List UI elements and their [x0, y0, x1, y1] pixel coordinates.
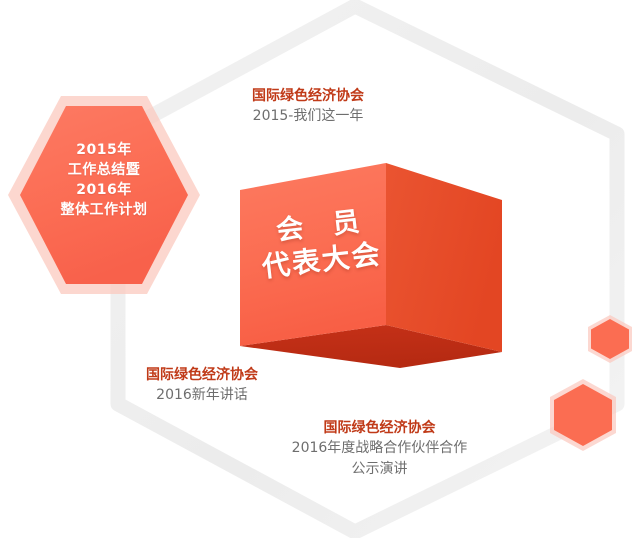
hex-dot-small-icon [586, 314, 634, 364]
label-bottom-left: 国际绿色经济协会 2016新年讲话 [112, 365, 292, 406]
label-top-title: 国际绿色经济协会 [252, 86, 364, 106]
label-bottom-right-title: 国际绿色经济协会 [272, 418, 487, 438]
label-bottom-right-subtitle-line-2: 公示演讲 [272, 459, 487, 480]
hex-dot-large-icon [548, 378, 618, 452]
label-top-subtitle: 2015-我们这一年 [252, 106, 364, 127]
infographic-canvas: 2015年 工作总结暨 2016年 整体工作计划 [0, 0, 636, 538]
label-bottom-right: 国际绿色经济协会 2016年度战略合作伙伴合作 公示演讲 [272, 418, 487, 480]
label-bottom-left-subtitle: 2016新年讲话 [112, 385, 292, 406]
hexagon-badge-shape [4, 92, 204, 298]
cube-front-face [240, 163, 386, 346]
label-bottom-left-title: 国际绿色经济协会 [112, 365, 292, 385]
cube-right-face [386, 163, 502, 352]
label-bottom-right-subtitle-line-1: 2016年度战略合作伙伴合作 [272, 438, 487, 459]
label-top: 国际绿色经济协会 2015-我们这一年 [252, 86, 364, 127]
